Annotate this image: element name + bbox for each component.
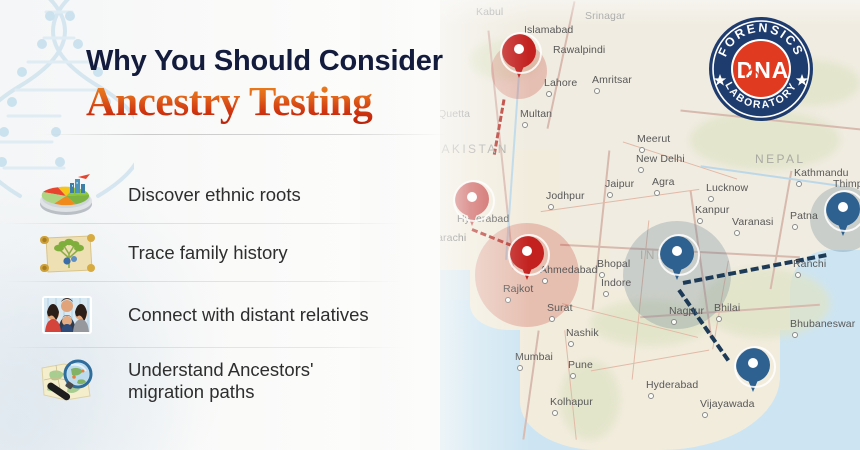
city-dot — [548, 204, 554, 210]
benefit-item-discover-ethnic-roots: Discover ethnic roots — [34, 166, 394, 224]
benefits-list: Discover ethnic roots — [34, 166, 394, 414]
map-pin-blue[interactable] — [826, 192, 860, 238]
city-label: Srinagar — [585, 10, 626, 22]
city-label: Thimp — [833, 178, 860, 190]
country-label: NEPAL — [755, 152, 805, 166]
city-label: Lahore — [544, 77, 577, 89]
city-dot — [697, 218, 703, 224]
city-dot — [654, 190, 660, 196]
city-label: Kolhapur — [550, 396, 593, 408]
logo-center-text: DNA — [737, 57, 790, 83]
city-label: New Delhi — [636, 153, 685, 165]
benefit-item-connect-with-distant-relatives: Connect with distant relatives — [34, 282, 394, 348]
pin-center-dot — [522, 246, 532, 256]
map-pin-blue[interactable] — [736, 348, 770, 394]
city-dot — [702, 412, 708, 418]
city-label: Ranchi — [793, 258, 826, 270]
pin-center-dot — [838, 202, 848, 212]
benefit-item-trace-family-history: Trace family history — [34, 224, 394, 282]
city-label: Hyderabad — [646, 379, 698, 391]
city-label: Indore — [601, 277, 631, 289]
headline-line-2: Ancestry Testing — [86, 80, 446, 123]
city-dot — [796, 181, 802, 187]
city-dot — [708, 196, 714, 202]
benefit-label: Discover ethnic roots — [128, 184, 301, 206]
benefit-label: Trace family history — [128, 242, 288, 264]
city-label: Patna — [790, 210, 818, 222]
city-dot — [549, 316, 555, 322]
benefit-item-understand-migration-paths: Understand Ancestors' migration paths — [34, 348, 394, 414]
city-dot — [603, 291, 609, 297]
city-dot — [568, 341, 574, 347]
content-panel: Why You Should Consider Ancestry Testing — [0, 0, 440, 450]
city-label: Jaipur — [605, 178, 634, 190]
city-dot — [546, 91, 552, 97]
scroll-family-tree-icon — [34, 228, 98, 278]
city-label: Bhubaneswar — [790, 318, 855, 330]
city-dot — [505, 297, 511, 303]
city-label: Nashik — [566, 327, 599, 339]
city-label: Mumbai — [515, 351, 553, 363]
city-label: Bhopal — [597, 258, 630, 270]
city-dot — [552, 410, 558, 416]
city-label: Nagpur — [669, 305, 704, 317]
city-dot — [607, 192, 613, 198]
headline-block: Why You Should Consider Ancestry Testing — [86, 46, 446, 124]
city-label: Multan — [520, 108, 552, 120]
headline-divider — [42, 134, 446, 135]
city-dot — [522, 122, 528, 128]
family-photo-icon — [34, 290, 98, 340]
city-label: Varanasi — [732, 216, 773, 228]
forensics-dna-laboratory-logo: FORENSICS LABORATORY DNA — [708, 16, 814, 122]
map-magnifier-icon — [34, 356, 98, 406]
city-dot — [594, 88, 600, 94]
city-dot — [517, 365, 523, 371]
city-label: Ahmedabad — [540, 264, 598, 276]
ancestry-testing-banner: KabulSrinagarIslamabadRawalpindiLahoreAm… — [0, 0, 860, 450]
benefit-label: Connect with distant relatives — [128, 304, 369, 326]
city-label: Amritsar — [592, 74, 632, 86]
headline-line-1: Why You Should Consider — [86, 46, 446, 76]
pin-center-dot — [672, 246, 682, 256]
city-label: Pune — [568, 359, 593, 371]
city-label: Vijayawada — [700, 398, 755, 410]
city-label: Rawalpindi — [553, 44, 605, 56]
pin-center-dot — [748, 358, 758, 368]
city-label: Jodhpur — [546, 190, 585, 202]
city-dot — [648, 393, 654, 399]
map-pin-blue[interactable] — [660, 236, 694, 282]
city-dot — [570, 373, 576, 379]
city-label: Bhilai — [714, 302, 740, 314]
city-dot — [792, 332, 798, 338]
city-dot — [638, 167, 644, 173]
city-dot — [795, 272, 801, 278]
city-label: Kabul — [476, 6, 503, 18]
city-dot — [671, 319, 677, 325]
city-label: Lucknow — [706, 182, 748, 194]
city-label: Kanpur — [695, 204, 729, 216]
city-dot — [792, 224, 798, 230]
city-dot — [716, 316, 722, 322]
pie-chart-icon — [34, 170, 98, 220]
city-label: Agra — [652, 176, 675, 188]
city-label: Rajkot — [503, 283, 533, 295]
city-label: Meerut — [637, 133, 670, 145]
city-dot — [734, 230, 740, 236]
pin-center-dot — [514, 44, 524, 54]
map-pin-red[interactable] — [510, 236, 544, 282]
benefit-label: Understand Ancestors' migration paths — [128, 359, 394, 403]
map-pin-red[interactable] — [502, 34, 536, 80]
city-label: Surat — [547, 302, 573, 314]
